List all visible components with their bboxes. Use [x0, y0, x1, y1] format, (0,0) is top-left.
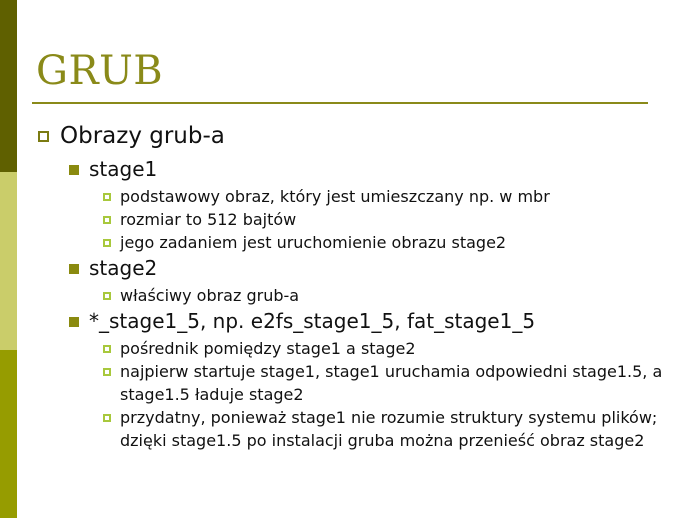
- slide-sidebar-decoration: [0, 0, 17, 518]
- list-item-text: rozmiar to 512 bajtów: [120, 208, 678, 231]
- filled-square-bullet-icon: [69, 317, 79, 327]
- list-item: stage2: [69, 254, 678, 283]
- hollow-square-small-bullet-icon: [103, 368, 111, 376]
- list-item: *_stage1_5, np. e2fs_stage1_5, fat_stage…: [69, 307, 678, 336]
- list-item-text: podstawowy obraz, który jest umieszczany…: [120, 185, 678, 208]
- list-item: pośrednik pomiędzy stage1 a stage2: [103, 337, 678, 360]
- list-item-text: jego zadaniem jest uruchomienie obrazu s…: [120, 231, 678, 254]
- sidebar-segment-bottom: [0, 350, 17, 518]
- list-item: jego zadaniem jest uruchomienie obrazu s…: [103, 231, 678, 254]
- list-item: stage1: [69, 155, 678, 184]
- list-item: przydatny, ponieważ stage1 nie rozumie s…: [103, 406, 678, 452]
- hollow-square-small-bullet-icon: [103, 216, 111, 224]
- filled-square-bullet-icon: [69, 264, 79, 274]
- hollow-square-small-bullet-icon: [103, 193, 111, 201]
- sidebar-segment-top: [0, 0, 17, 172]
- list-item-text: pośrednik pomiędzy stage1 a stage2: [120, 337, 678, 360]
- list-item: właściwy obraz grub-a: [103, 284, 678, 307]
- filled-square-bullet-icon: [69, 165, 79, 175]
- hollow-square-small-bullet-icon: [103, 239, 111, 247]
- list-item-text: przydatny, ponieważ stage1 nie rozumie s…: [120, 406, 678, 452]
- list-item-text: właściwy obraz grub-a: [120, 284, 678, 307]
- slide-body-bullet-list: Obrazy grub-a stage1 podstawowy obraz, k…: [38, 120, 678, 452]
- list-item-text: Obrazy grub-a: [60, 120, 678, 152]
- hollow-square-small-bullet-icon: [103, 292, 111, 300]
- list-item-text: stage2: [89, 254, 678, 283]
- list-item: rozmiar to 512 bajtów: [103, 208, 678, 231]
- list-item: podstawowy obraz, który jest umieszczany…: [103, 185, 678, 208]
- slide-title: GRUB: [36, 47, 163, 95]
- list-item: Obrazy grub-a: [38, 120, 678, 152]
- sidebar-segment-middle: [0, 172, 17, 350]
- title-divider: [32, 102, 648, 104]
- hollow-square-small-bullet-icon: [103, 414, 111, 422]
- list-item-text: *_stage1_5, np. e2fs_stage1_5, fat_stage…: [89, 307, 678, 336]
- list-item-text: najpierw startuje stage1, stage1 urucham…: [120, 360, 678, 406]
- hollow-square-bullet-icon: [38, 131, 49, 142]
- presentation-slide: GRUB Obrazy grub-a stage1 podstawowy obr…: [0, 0, 692, 518]
- list-item-text: stage1: [89, 155, 678, 184]
- hollow-square-small-bullet-icon: [103, 345, 111, 353]
- list-item: najpierw startuje stage1, stage1 urucham…: [103, 360, 678, 406]
